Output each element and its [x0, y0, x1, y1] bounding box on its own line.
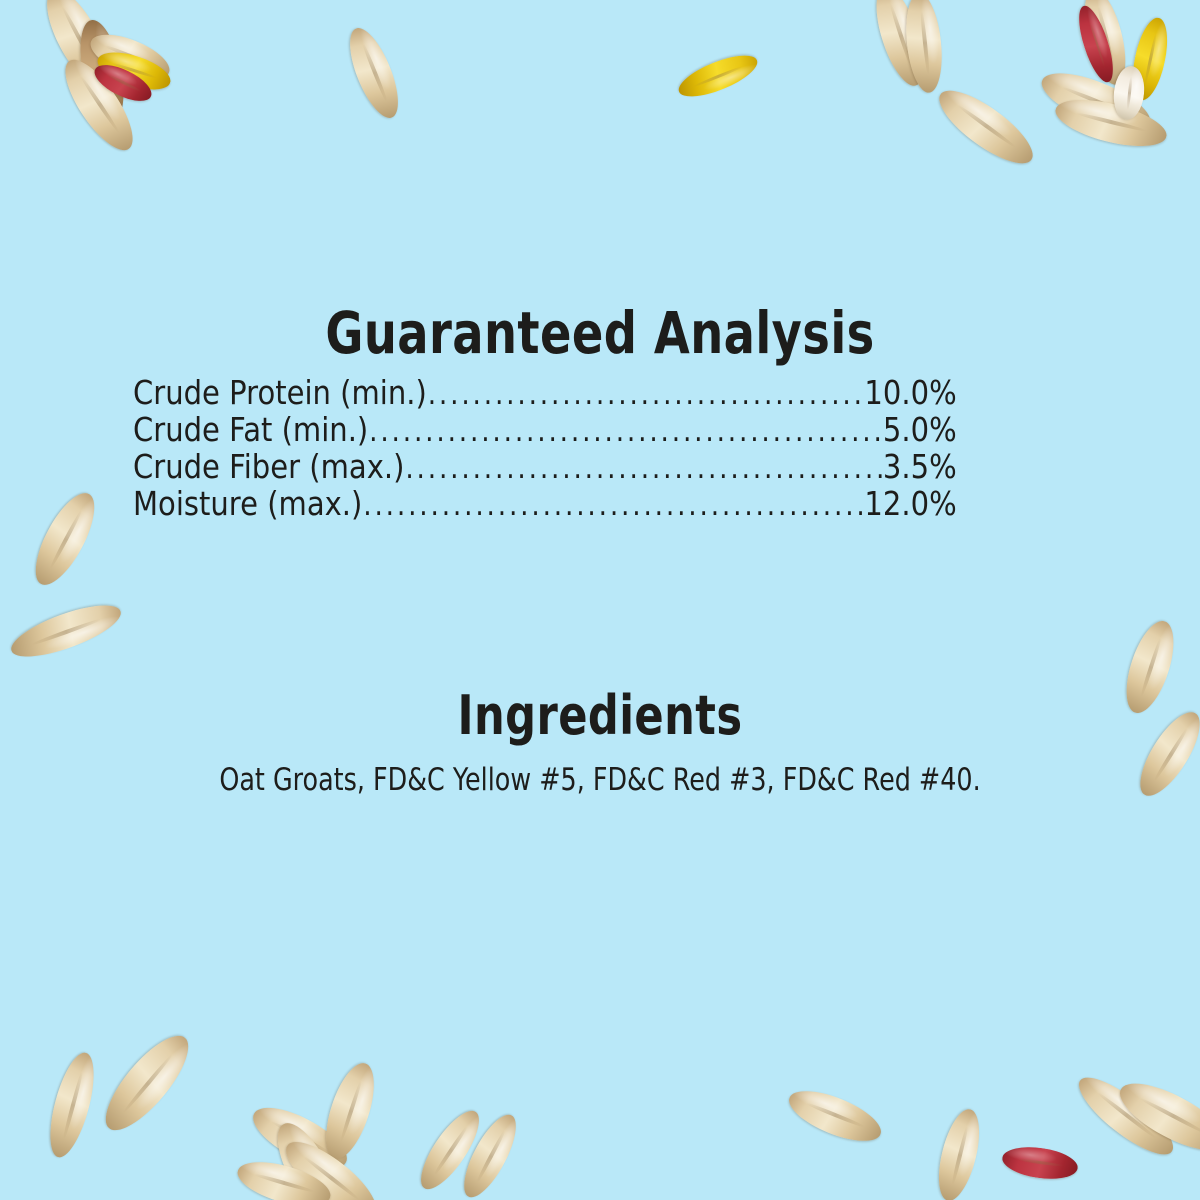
analysis-label: Crude Fat (min.): [133, 412, 368, 447]
analysis-label: Crude Fiber (max.): [133, 449, 404, 484]
analysis-label: Crude Protein (min.): [133, 375, 427, 410]
analysis-leader-dots: ........................................…: [428, 377, 864, 412]
analysis-row: Crude Fiber (max.)......................…: [133, 449, 957, 486]
analysis-value: 12.0%: [864, 486, 956, 521]
analysis-row: Crude Fat (min.)........................…: [133, 412, 957, 449]
analysis-row: Moisture (max.).........................…: [133, 486, 957, 523]
analysis-value: 5.0%: [883, 412, 957, 447]
label-content: Guaranteed Analysis Crude Protein (min.)…: [0, 0, 1200, 1200]
ingredients-text: Oat Groats, FD&C Yellow #5, FD&C Red #3,…: [108, 762, 1092, 798]
analysis-value: 3.5%: [883, 449, 957, 484]
analysis-label: Moisture (max.): [133, 486, 362, 521]
ingredients-title: Ingredients: [120, 687, 1080, 745]
analysis-leader-dots: ........................................…: [405, 451, 882, 486]
analysis-value: 10.0%: [864, 375, 956, 410]
analysis-row: Crude Protein (min.)....................…: [133, 375, 957, 412]
analysis-leader-dots: ........................................…: [369, 414, 882, 449]
guaranteed-analysis-title: Guaranteed Analysis: [120, 302, 1080, 364]
guaranteed-analysis-list: Crude Protein (min.)....................…: [133, 375, 1069, 523]
analysis-leader-dots: ........................................…: [363, 488, 863, 523]
product-label-panel: Guaranteed Analysis Crude Protein (min.)…: [0, 0, 1200, 1200]
